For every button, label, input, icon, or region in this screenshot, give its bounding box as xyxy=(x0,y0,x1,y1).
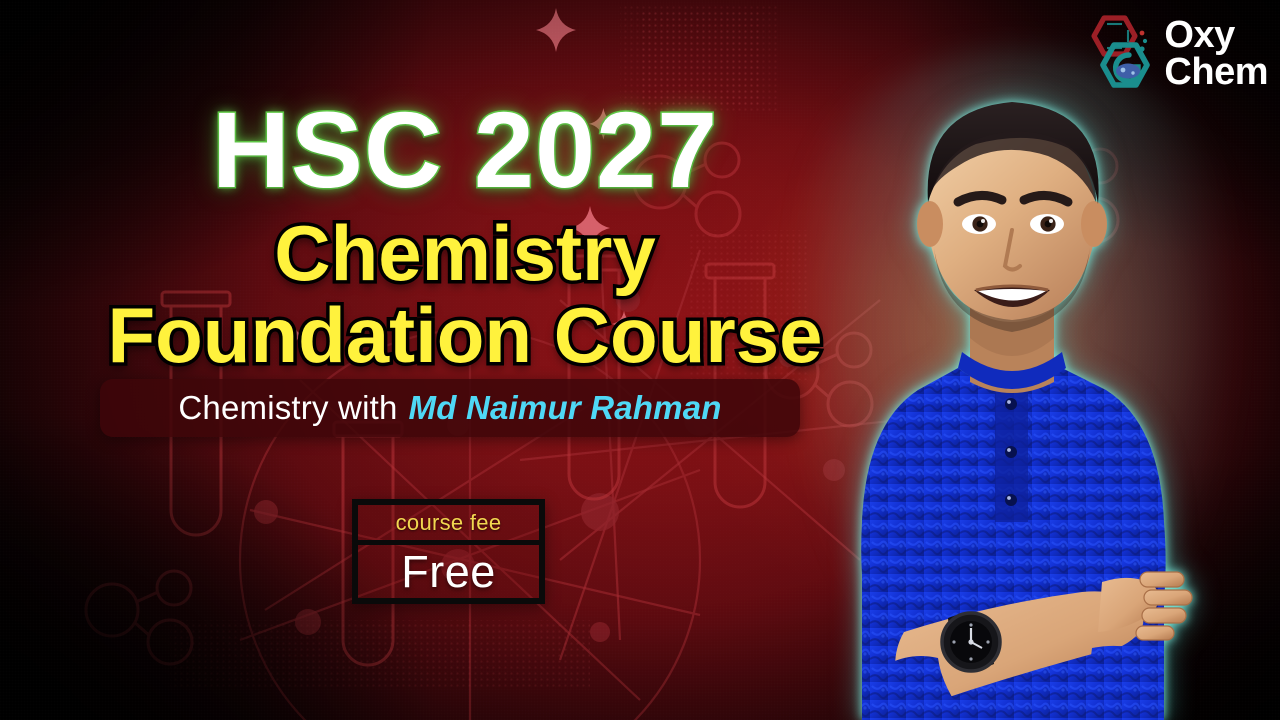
brand-wordmark: Oxy Chem xyxy=(1164,17,1268,91)
headline-line-2: Foundation Course xyxy=(0,296,930,376)
headline-line-1: Chemistry xyxy=(0,214,930,294)
instructor-banner: Chemistry with Md Naimur Rahman xyxy=(100,379,800,437)
course-headline: Chemistry Foundation Course xyxy=(0,214,930,375)
page-title-exam: HSC 2027 xyxy=(0,96,930,204)
course-fee-label: course fee xyxy=(396,512,502,534)
brand-name-line-2: Chem xyxy=(1164,54,1268,91)
course-fee-value-row: Free xyxy=(358,545,539,598)
instructor-prefix-label: Chemistry with xyxy=(178,389,397,427)
oxychem-hexagon-flask-icon xyxy=(1078,13,1156,95)
course-thumbnail-banner: HSC 2027 Chemistry Foundation Course Che… xyxy=(0,0,1280,720)
brand-logo: Oxy Chem xyxy=(1078,13,1268,95)
instructor-name: Md Naimur Rahman xyxy=(409,389,722,427)
course-fee-box: course fee Free xyxy=(352,499,545,604)
course-fee-value: Free xyxy=(401,549,496,594)
brand-name-line-1: Oxy xyxy=(1164,17,1268,54)
course-fee-label-row: course fee xyxy=(358,505,539,545)
